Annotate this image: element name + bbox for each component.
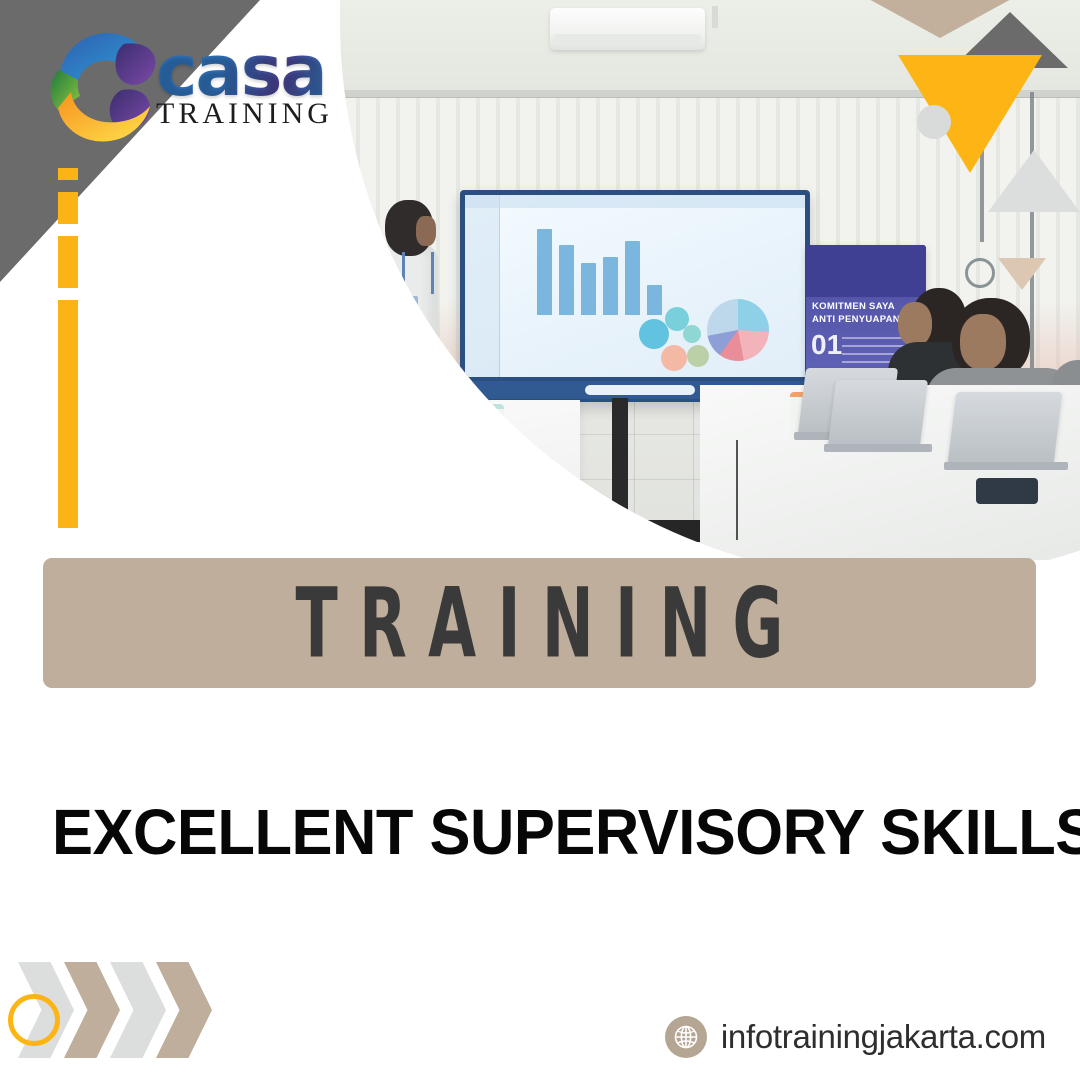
presenter-badge <box>402 296 418 308</box>
dashboard-sidebar <box>465 195 500 377</box>
training-banner-label: TRAINING <box>274 567 805 680</box>
laptop-right <box>952 392 1058 464</box>
attendee-front <box>952 298 1030 378</box>
poster-canvas: KOMITMEN SAYA ANTI PENYUAPAN 01 02 <box>0 0 1080 1080</box>
dashboard-bubble-1 <box>639 319 669 349</box>
dashboard-bubble-4 <box>687 345 709 367</box>
tick-3 <box>58 236 78 288</box>
dashboard-bubble-3 <box>661 345 687 371</box>
banner-item-01: 01 <box>811 329 842 361</box>
dashboard-bar-chart <box>537 229 662 315</box>
logo-wordmark: casa TRAINING <box>156 40 333 131</box>
laptop-center <box>832 380 924 446</box>
tick-4 <box>58 300 78 528</box>
presenter-face <box>416 216 436 246</box>
display-screen <box>465 195 805 377</box>
presenter-lanyard <box>402 252 434 294</box>
gray-circle-icon <box>917 105 951 139</box>
light-gray-triangle-icon <box>988 150 1080 212</box>
dashboard-toolbar <box>465 195 805 208</box>
interactive-display <box>460 190 810 402</box>
casa-training-logo[interactable]: casa TRAINING <box>38 18 348 168</box>
stand-caster-left <box>598 538 615 555</box>
yellow-ring-icon <box>8 994 60 1046</box>
desk-cable <box>736 440 738 540</box>
tick-2 <box>58 192 78 224</box>
small-tan-triangle-icon <box>998 258 1046 290</box>
banner-line2: ANTI PENYUAPAN <box>812 314 900 325</box>
tick-1 <box>58 168 78 180</box>
power-cable-left <box>460 402 462 522</box>
casa-circular-swirl-logo-icon <box>38 18 173 153</box>
tissue-box-left <box>458 404 504 449</box>
training-banner: TRAINING <box>43 558 1036 688</box>
air-conditioner <box>550 8 705 50</box>
globe-icon <box>665 1016 707 1058</box>
smartphone-on-table <box>976 478 1038 504</box>
banner-header-art <box>806 245 926 297</box>
dashboard-bubble-5 <box>683 325 701 343</box>
page-title: EXCELLENT SUPERVISORY SKILLS <box>52 795 993 869</box>
logo-subtitle: TRAINING <box>156 97 333 131</box>
footer-website[interactable]: infotrainingjakarta.com <box>665 1016 1046 1058</box>
dashboard-pie-chart <box>707 299 769 361</box>
ac-pipe <box>712 6 718 28</box>
front-table <box>340 400 580 550</box>
hanging-ring <box>965 258 995 288</box>
banner-line1: KOMITMEN SAYA <box>812 301 895 312</box>
website-url: infotrainingjakarta.com <box>721 1018 1046 1056</box>
logo-name: casa <box>156 40 333 103</box>
display-stand-left <box>612 398 628 526</box>
